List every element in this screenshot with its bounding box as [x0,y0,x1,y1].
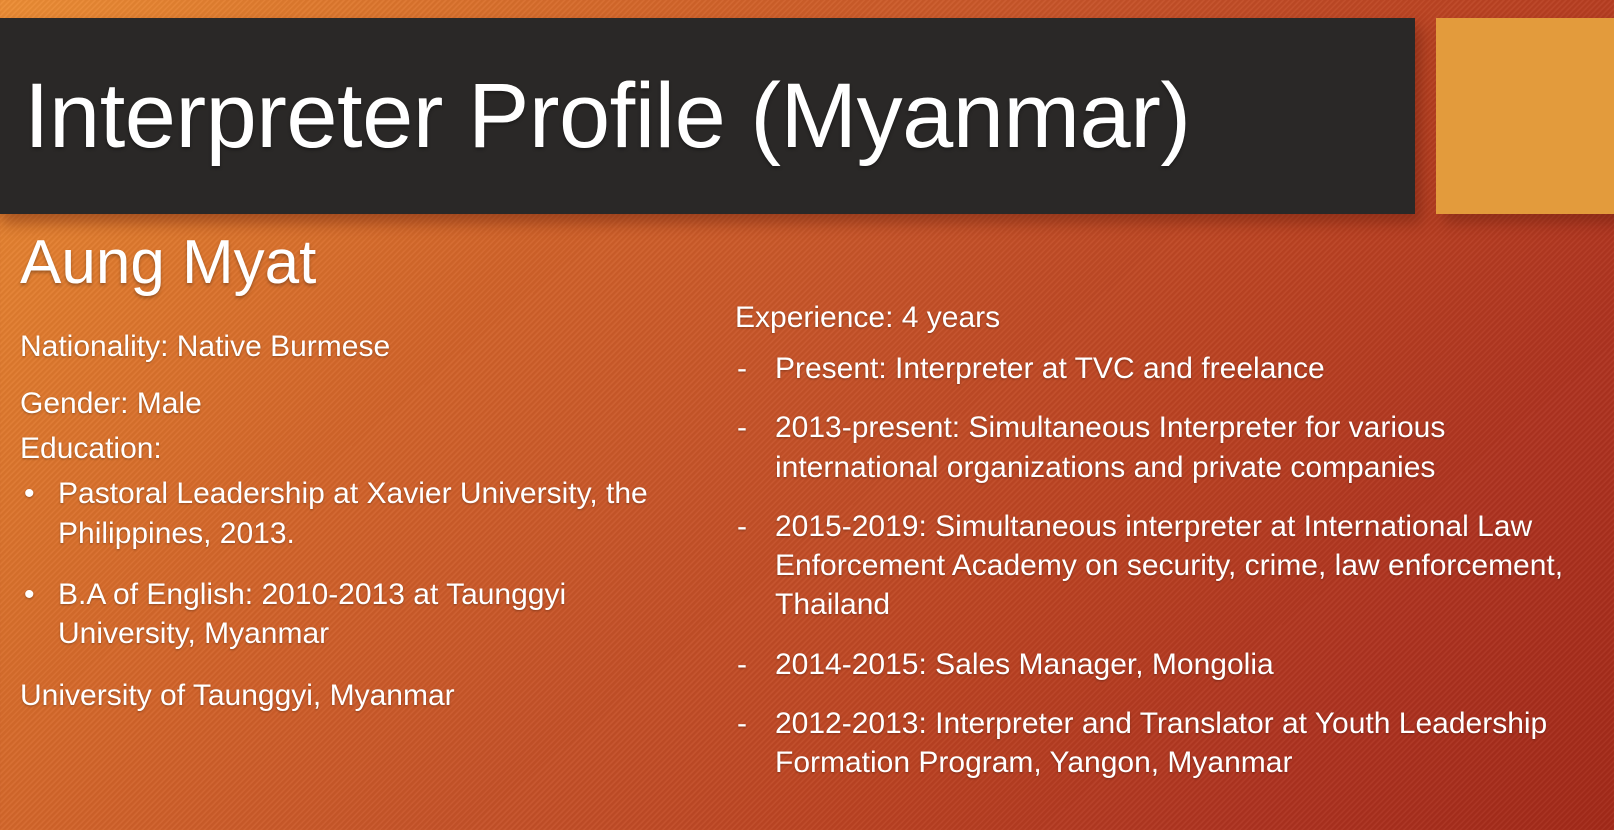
dash-marker-icon: - [737,408,747,447]
list-item-label: Present: Interpreter at TVC and freelanc… [775,352,1325,385]
list-item: - Present: Interpreter at TVC and freela… [735,349,1605,388]
experience-list: - Present: Interpreter at TVC and freela… [735,349,1605,783]
nationality-line: Nationality: Native Burmese [20,327,710,366]
dash-marker-icon: - [737,349,747,388]
right-column: Experience: 4 years - Present: Interpret… [735,298,1605,783]
university-footer-line: University of Taunggyi, Myanmar [20,676,710,715]
list-item-label: 2014-2015: Sales Manager, Mongolia [775,648,1274,681]
gender-line: Gender: Male [20,384,710,423]
left-column: Aung Myat Nationality: Native Burmese Ge… [20,228,710,733]
list-item-label: 2015-2019: Simultaneous interpreter at I… [775,510,1563,622]
person-name: Aung Myat [20,228,710,297]
education-label: Education: [20,429,710,468]
slide-body: Aung Myat Nationality: Native Burmese Ge… [0,214,1614,830]
list-item-label: B.A of English: 2010-2013 at Taunggyi Un… [58,578,566,650]
education-list: • Pastoral Leadership at Xavier Universi… [20,474,710,653]
page-title: Interpreter Profile (Myanmar) [0,70,1191,162]
title-bar: Interpreter Profile (Myanmar) [0,18,1415,214]
list-item-label: 2012-2013: Interpreter and Translator at… [775,707,1547,779]
bullet-marker-icon: • [24,474,35,513]
list-item: - 2012-2013: Interpreter and Translator … [735,704,1605,783]
list-item-label: 2013-present: Simultaneous Interpreter f… [775,411,1445,483]
list-item: • B.A of English: 2010-2013 at Taunggyi … [20,575,710,654]
slide: Interpreter Profile (Myanmar) Aung Myat … [0,0,1614,830]
bullet-marker-icon: • [24,575,35,614]
list-item: - 2013-present: Simultaneous Interpreter… [735,408,1605,487]
list-item: - 2015-2019: Simultaneous interpreter at… [735,507,1605,625]
accent-square-decoration [1436,18,1614,214]
list-item-label: Pastoral Leadership at Xavier University… [58,477,648,549]
dash-marker-icon: - [737,645,747,684]
list-item: - 2014-2015: Sales Manager, Mongolia [735,645,1605,684]
list-item: • Pastoral Leadership at Xavier Universi… [20,474,710,553]
dash-marker-icon: - [737,507,747,546]
experience-heading: Experience: 4 years [735,298,1605,337]
dash-marker-icon: - [737,704,747,743]
